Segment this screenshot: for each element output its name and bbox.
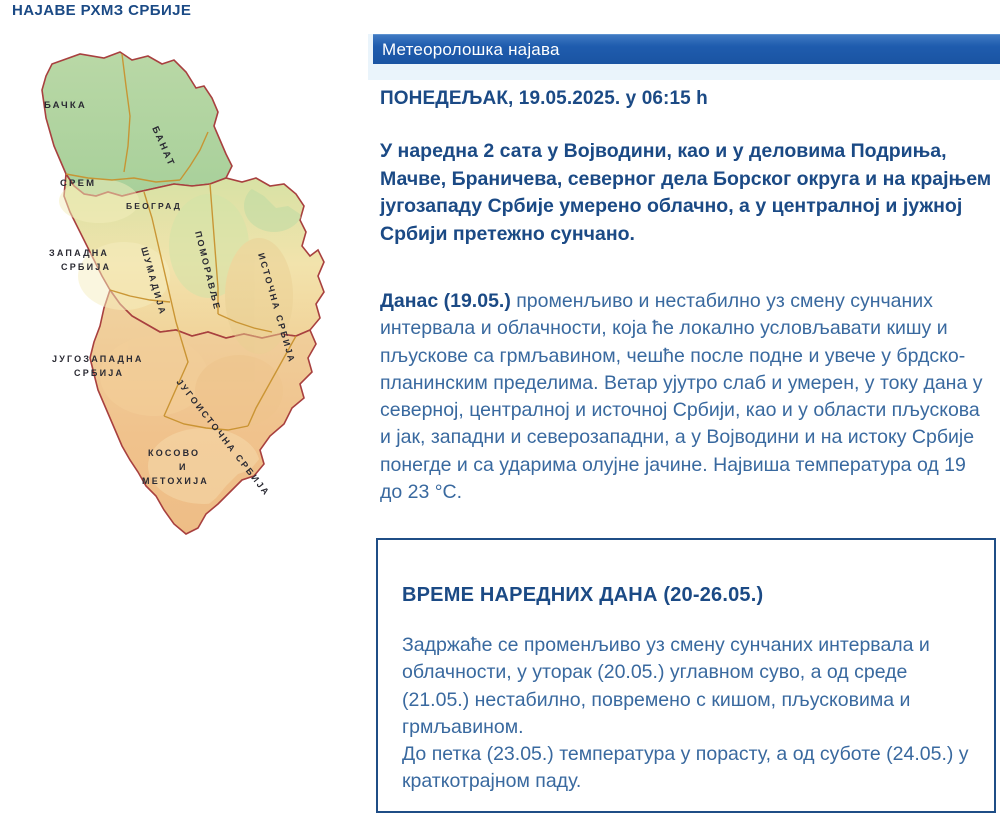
bulletin-date: ПОНЕДЕЉАК, 19.05.2025. у 06:15 h xyxy=(380,88,708,110)
map-label-metohija: МЕТОХИЈА xyxy=(142,476,209,486)
outlook-title: ВРЕМЕ НАРЕДНИХ ДАНА (20-26.05.) xyxy=(402,584,763,607)
map-label-kosovo: КОСОВО xyxy=(148,448,200,458)
bulletin-column: Метеоролошка најава ПОНЕДЕЉАК, 19.05.202… xyxy=(368,0,1000,825)
header-bar: Метеоролошка најава xyxy=(373,34,1000,64)
map-label-backa: БАЧКА xyxy=(44,100,87,111)
serbia-map-svg: БАЧКА БАНАТ СРЕМ БЕОГРАД ЗАПАДНА СРБИЈА … xyxy=(4,46,364,546)
today-text: променљиво и нестабилно уз смену сунчани… xyxy=(380,290,982,503)
outlook-body: Задржаће се променљиво уз смену сунчаних… xyxy=(402,632,972,796)
lead-paragraph: У наредна 2 сата у Војводини, као и у де… xyxy=(380,138,992,249)
outlook-line-1: Задржаће се променљиво уз смену сунчаних… xyxy=(402,632,972,741)
map-label-zapadna-srbija-2: СРБИЈА xyxy=(61,262,111,272)
today-forecast-paragraph: Данас (19.05.) променљиво и нестабилно у… xyxy=(380,288,992,506)
map-column: НАЈАВЕ РХМЗ СРБИЈЕ xyxy=(0,0,368,825)
page-title: НАЈАВЕ РХМЗ СРБИЈЕ xyxy=(12,2,191,19)
bulletin-page: НАЈАВЕ РХМЗ СРБИЈЕ xyxy=(0,0,1000,825)
map-label-jugozapadna-srbija: ЈУГОЗАПАДНА xyxy=(52,354,144,364)
map-label-jugozapadna-srbija-2: СРБИЈА xyxy=(74,368,124,378)
header-bar-title: Метеоролошка најава xyxy=(373,40,560,60)
map-label-srem: СРЕМ xyxy=(60,178,96,189)
serbia-map: БАЧКА БАНАТ СРЕМ БЕОГРАД ЗАПАДНА СРБИЈА … xyxy=(4,46,364,546)
outlook-box: ВРЕМЕ НАРЕДНИХ ДАНА (20-26.05.) Задржаће… xyxy=(376,538,996,813)
map-label-beograd: БЕОГРАД xyxy=(126,201,182,211)
today-label: Данас (19.05.) xyxy=(380,290,511,312)
outlook-line-2: До петка (23.05.) температура у порасту,… xyxy=(402,741,972,796)
map-label-zapadna-srbija: ЗАПАДНА xyxy=(49,248,109,258)
map-label-kosovo-i: И xyxy=(179,462,188,472)
